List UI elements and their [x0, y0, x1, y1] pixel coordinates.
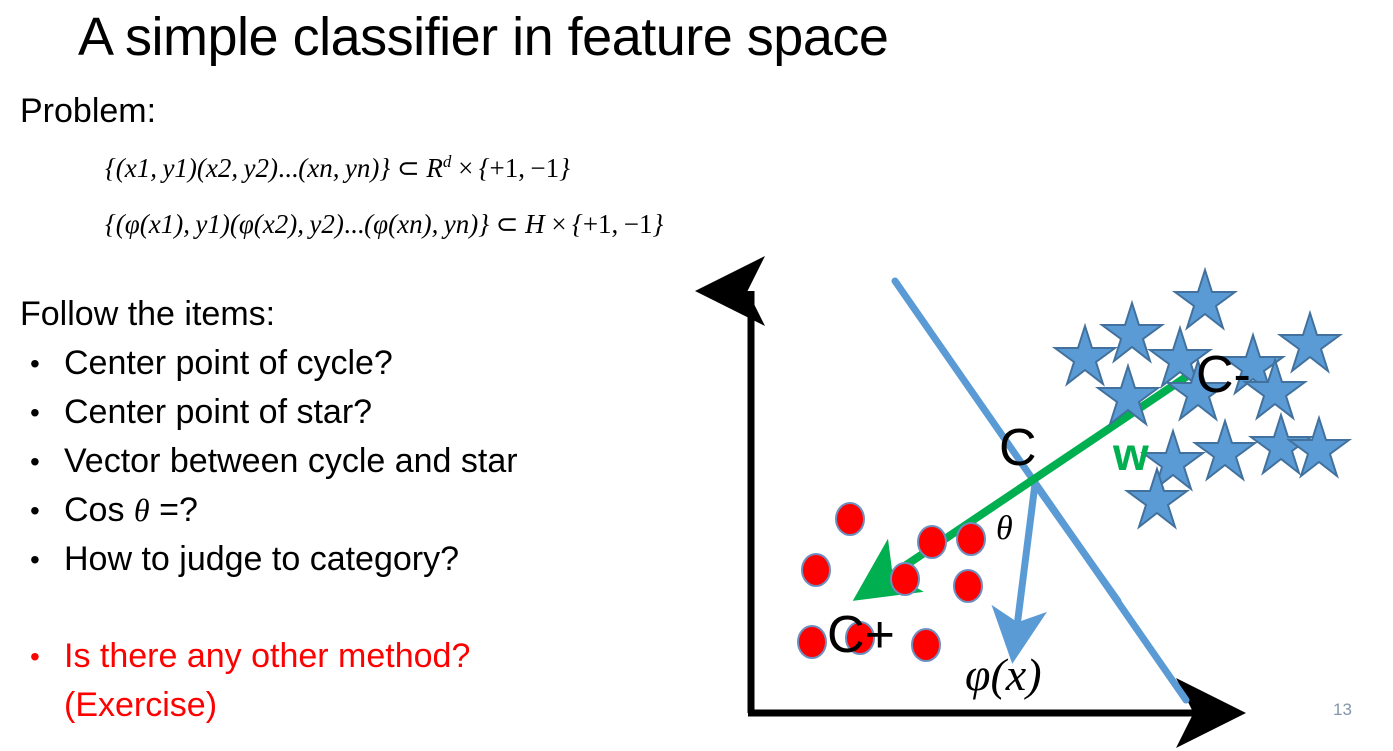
cycle-point: [836, 503, 864, 535]
star-point: [1175, 270, 1235, 328]
cycle-point: [891, 563, 919, 595]
label-center-minus: C-: [1196, 345, 1251, 405]
cycle-point: [912, 629, 940, 661]
star-point: [1055, 326, 1115, 384]
separator-line: [1035, 484, 1118, 601]
cycle-point: [802, 554, 830, 586]
cycle-point: [954, 570, 982, 602]
label-center-plus: C+: [827, 605, 895, 665]
label-weight-vector: w: [1113, 427, 1149, 481]
cycle-point: [957, 523, 985, 555]
label-angle-theta: θ: [996, 510, 1013, 548]
slide-number: 13: [1333, 700, 1352, 720]
star-point: [1143, 431, 1203, 489]
star-point: [1195, 421, 1255, 479]
slide-canvas: A simple classifier in feature space Pro…: [0, 0, 1393, 751]
cycle-point: [798, 626, 826, 658]
cycle-point: [918, 526, 946, 558]
star-point: [1280, 313, 1340, 371]
feature-space-diagram: [0, 0, 1393, 751]
projection-arrow: [1014, 484, 1035, 650]
label-mapped-point: φ(x): [965, 648, 1042, 701]
label-center-c: C: [999, 418, 1037, 478]
